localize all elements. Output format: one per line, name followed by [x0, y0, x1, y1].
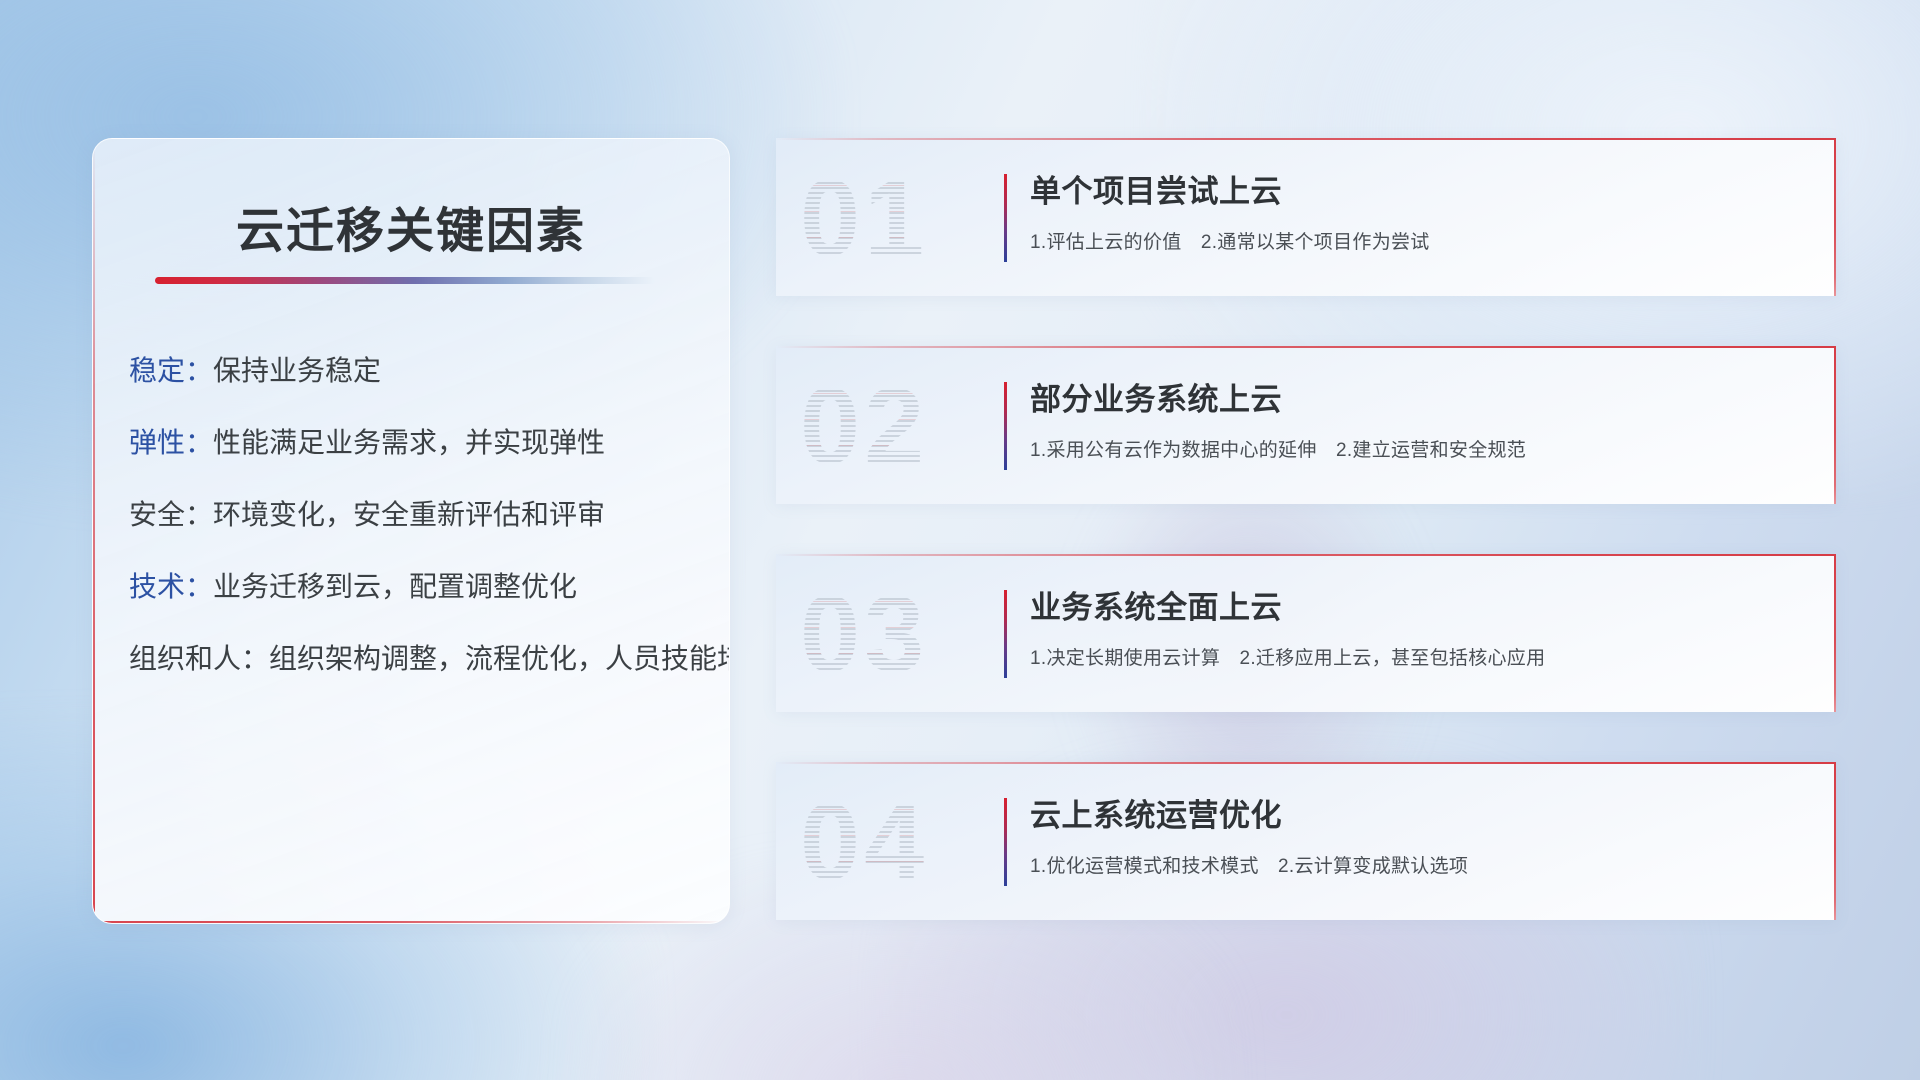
stage-divider-accent: [1004, 798, 1007, 886]
stage-description: 1.决定长期使用云计算 2.迁移应用上云，甚至包括核心应用: [1030, 643, 1796, 670]
factor-list: 稳定：保持业务稳定弹性：性能满足业务需求，并实现弹性安全：环境变化，安全重新评估…: [129, 357, 705, 717]
factor-label: 安全：: [129, 499, 213, 530]
factor-label: 组织和人：: [129, 643, 269, 674]
factor-label: 稳定：: [129, 355, 213, 386]
panel-title: 云迁移关键因素: [93, 191, 729, 261]
stage-card[interactable]: 0404云上系统运营优化1.优化运营模式和技术模式 2.云计算变成默认选项: [776, 762, 1836, 920]
factor-row: 安全：环境变化，安全重新评估和评审: [129, 501, 705, 529]
stage-title: 单个项目尝试上云: [1030, 166, 1796, 211]
factor-label: 技术：: [129, 571, 213, 602]
factor-row: 弹性：性能满足业务需求，并实现弹性: [129, 429, 705, 457]
stage-number-watermark-tint: 03: [800, 568, 980, 700]
title-underline-accent: [155, 277, 655, 284]
stage-title: 部分业务系统上云: [1030, 374, 1796, 419]
factor-row: 稳定：保持业务稳定: [129, 357, 705, 385]
stage-card-body: 业务系统全面上云1.决定长期使用云计算 2.迁移应用上云，甚至包括核心应用: [1030, 582, 1796, 670]
stage-description: 1.优化运营模式和技术模式 2.云计算变成默认选项: [1030, 851, 1796, 878]
factor-value: 环境变化，安全重新评估和评审: [213, 499, 605, 530]
stage-number-watermark-tint: 04: [800, 776, 980, 908]
factor-value: 组织架构调整，流程优化，人员技能培训: [269, 643, 730, 674]
stage-divider-accent: [1004, 382, 1007, 470]
stage-title: 云上系统运营优化: [1030, 790, 1796, 835]
stage-number-watermark-tint: 01: [800, 152, 980, 284]
factor-value: 业务迁移到云，配置调整优化: [213, 571, 577, 602]
stage-card[interactable]: 0202部分业务系统上云1.采用公有云作为数据中心的延伸 2.建立运营和安全规范: [776, 346, 1836, 504]
stage-card-body: 云上系统运营优化1.优化运营模式和技术模式 2.云计算变成默认选项: [1030, 790, 1796, 878]
stage-card-body: 部分业务系统上云1.采用公有云作为数据中心的延伸 2.建立运营和安全规范: [1030, 374, 1796, 462]
stage-card[interactable]: 0101单个项目尝试上云1.评估上云的价值 2.通常以某个项目作为尝试: [776, 138, 1836, 296]
key-factors-panel: 云迁移关键因素 稳定：保持业务稳定弹性：性能满足业务需求，并实现弹性安全：环境变…: [92, 138, 730, 924]
stage-card-body: 单个项目尝试上云1.评估上云的价值 2.通常以某个项目作为尝试: [1030, 166, 1796, 254]
factor-value: 性能满足业务需求，并实现弹性: [213, 427, 605, 458]
stage-card-list: 0101单个项目尝试上云1.评估上云的价值 2.通常以某个项目作为尝试0202部…: [776, 138, 1836, 970]
stage-description: 1.采用公有云作为数据中心的延伸 2.建立运营和安全规范: [1030, 435, 1796, 462]
stage-divider-accent: [1004, 590, 1007, 678]
factor-value: 保持业务稳定: [213, 355, 381, 386]
stage-title: 业务系统全面上云: [1030, 582, 1796, 627]
stage-number-watermark-tint: 02: [800, 360, 980, 492]
factor-row: 技术：业务迁移到云，配置调整优化: [129, 573, 705, 601]
stage-card[interactable]: 0303业务系统全面上云1.决定长期使用云计算 2.迁移应用上云，甚至包括核心应…: [776, 554, 1836, 712]
stage-divider-accent: [1004, 174, 1007, 262]
factor-label: 弹性：: [129, 427, 213, 458]
stage-description: 1.评估上云的价值 2.通常以某个项目作为尝试: [1030, 227, 1796, 254]
factor-row: 组织和人：组织架构调整，流程优化，人员技能培训: [129, 645, 705, 673]
